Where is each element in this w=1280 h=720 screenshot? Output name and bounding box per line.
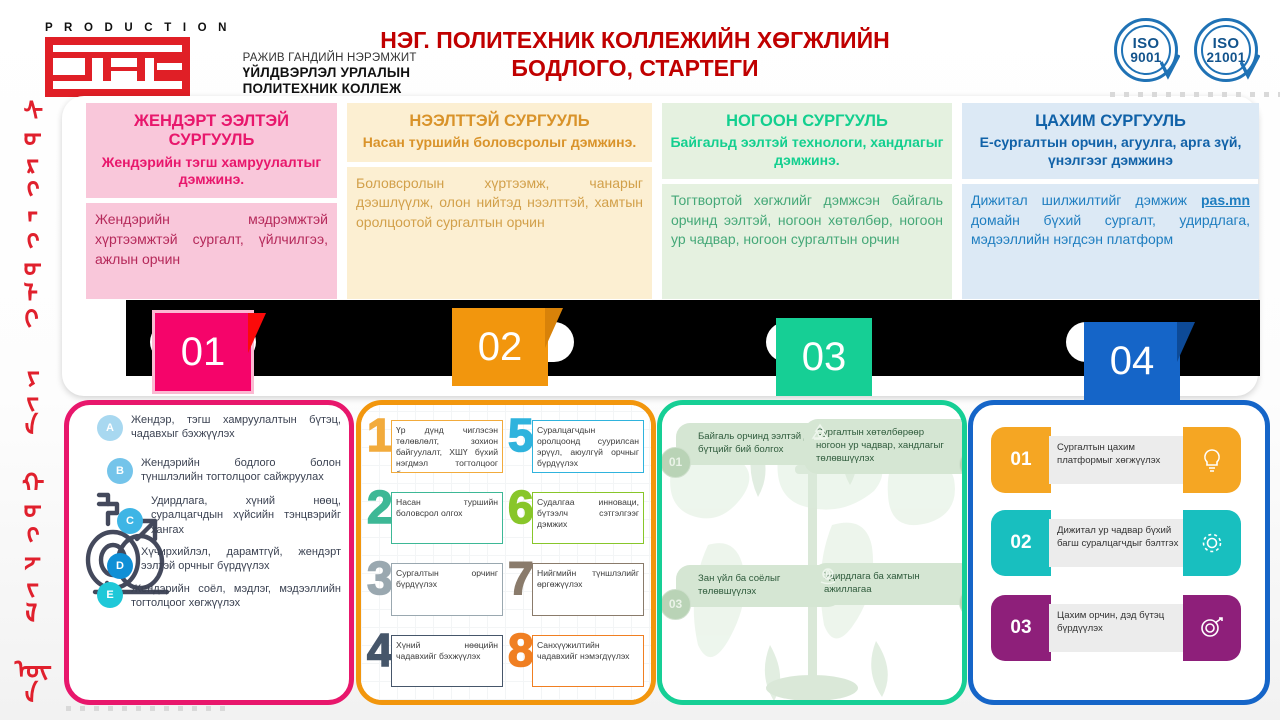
card-header: НЭЭЛТТЭЙ СУРГУУЛЬ Насан туршийн боловсро… — [347, 103, 652, 162]
grid-text: Судалгаа инноваци, бүтээлч сэтгэлгээг дэ… — [532, 492, 644, 545]
card-subtitle: Е-сургалтын орчин, агуулга, арга зүй, үн… — [970, 134, 1251, 168]
iso-label: ISO — [1213, 36, 1240, 51]
grid-number: 7 — [508, 557, 534, 601]
logo-production-word: P R O D U C T I O N — [45, 22, 231, 34]
list-item[interactable]: B Жендэрийн бодлого болон түншлэлийн тог… — [69, 456, 349, 485]
grid-item-3[interactable]: 3 Сургалтын орчинг бүрдүүлэх — [367, 555, 504, 622]
card-body-pre: Дижитал шилжилтийг дэмжиж — [971, 192, 1201, 208]
bullet-label: B — [116, 465, 124, 477]
iso-9001-badge: ISO 9001 — [1110, 14, 1182, 86]
bullet-label: A — [106, 422, 114, 434]
strategy-cards: ЖЕНДЭРТ ЭЭЛТЭЙ СУРГУУЛЬ Жендэрийн тэгш х… — [86, 103, 1262, 299]
card-subtitle: Байгальд ээлтэй технологи, хандлагыг дэм… — [670, 134, 944, 168]
gear-icon-wrap — [1183, 510, 1241, 576]
digital-item-03[interactable]: 03 Цахим орчин, дэд бүтэц бүрдүүлэх — [991, 595, 1241, 661]
green-item-02[interactable]: 02 Сургалтын хөтөлбөрөөр ногоон ур чадва… — [804, 419, 962, 474]
digital-item-text: Цахим орчин, дэд бүтэц бүрдүүлэх — [1049, 604, 1191, 652]
gear-icon — [1199, 530, 1225, 556]
card-gender-school[interactable]: ЖЕНДЭРТ ЭЭЛТЭЙ СУРГУУЛЬ Жендэрийн тэгш х… — [86, 103, 337, 299]
art-logo-mark — [45, 37, 190, 97]
grid-number: 1 — [367, 414, 393, 458]
card-digital-school[interactable]: ЦАХИМ СУРГУУЛЬ Е-сургалтын орчин, агуулг… — [962, 103, 1259, 299]
digital-item-number: 01 — [991, 427, 1051, 493]
number-tab-label: 01 — [181, 330, 226, 375]
grid-item-6[interactable]: 6 Судалгаа инноваци, бүтээлч сэтгэлгээг … — [508, 484, 645, 551]
card-title: ЦАХИМ СУРГУУЛЬ — [970, 112, 1251, 131]
card-subtitle: Насан туршийн боловсролыг дэмжинэ. — [355, 134, 644, 151]
number-tab-04[interactable]: 04 — [1084, 322, 1180, 400]
slide-title: НЭГ. ПОЛИТЕХНИК КОЛЛЕЖИЙН ХӨГЖЛИЙН БОДЛО… — [345, 26, 925, 82]
card-header: НОГООН СУРГУУЛЬ Байгальд ээлтэй технолог… — [662, 103, 952, 179]
card-subtitle: Жендэрийн тэгш хамруулалтыг дэмжинэ. — [94, 154, 329, 188]
iso-21001-badge: ISO 21001 — [1190, 14, 1262, 86]
green-item-text: Байгаль орчинд ээлтэй дэд бүтцийг бий бо… — [698, 431, 820, 455]
card-title: ЖЕНДЭРТ ЭЭЛТЭЙ СУРГУУЛЬ — [94, 112, 329, 151]
number-tab-label: 03 — [802, 335, 847, 380]
target-icon — [1199, 615, 1225, 641]
lightbulb-icon — [1199, 447, 1225, 473]
bullet-b: B — [107, 458, 133, 484]
green-item-text: Удирдлага ба хамтын ажиллагаа — [824, 571, 920, 595]
numbered-grid: 1 Үр дүнд чиглэсэн төлөвлөлт, зохион бай… — [361, 405, 651, 700]
iso-number: 9001 — [1130, 51, 1161, 65]
grid-text: Санхүүжилтийн чадавхийг нэмэгдүүлэх — [532, 635, 644, 688]
list-item-text: Жендэрийн соёл, мэдлэг, мэдээллийн тогто… — [131, 582, 341, 611]
column-green: 01 Байгаль орчинд ээлтэй дэд бүтцийг бий… — [657, 400, 967, 705]
digital-item-text: Сургалтын цахим платформыг хөгжүүлэх — [1049, 436, 1191, 484]
lightbulb-icon-wrap — [1183, 427, 1241, 493]
digital-item-01[interactable]: 01 Сургалтын цахим платформыг хөгжүүлэх — [991, 427, 1241, 493]
digital-item-text: Дижитал ур чадвар бүхий багш суралцагчды… — [1049, 519, 1191, 567]
list-item[interactable]: A Жендэр, тэгш хамруулалтын бүтэц, чадав… — [69, 413, 349, 442]
card-body: Жендэрийн мэдрэмжтэй хүртээмжтэй сургалт… — [86, 203, 337, 299]
green-item-text: Зан үйл ба соёлыг төлөвшүүлэх — [698, 573, 780, 597]
card-title: НЭЭЛТТЭЙ СУРГУУЛЬ — [355, 112, 644, 131]
grid-number: 2 — [367, 486, 393, 530]
green-item-text: Сургалтын хөтөлбөрөөр ногоон ур чадвар, … — [816, 427, 944, 464]
grid-item-2[interactable]: 2 Насан туршийн боловсрол олгох — [367, 484, 504, 551]
bullet-c: C — [117, 508, 143, 534]
bullet-label: D — [116, 560, 124, 572]
card-body: Боловсролын хүртээмж, чанарыг дээшлүүлж,… — [347, 167, 652, 299]
number-tab-label: 02 — [478, 325, 523, 370]
grid-text: Сургалтын орчинг бүрдүүлэх — [391, 563, 503, 616]
column-open: 1 Үр дүнд чиглэсэн төлөвлөлт, зохион бай… — [356, 400, 656, 705]
grid-text: Суралцагчдын оролцоонд суурилсан эрүүл, … — [532, 420, 644, 473]
card-body: Дижитал шилжилтийг дэмжиж pas.mn домайн … — [962, 184, 1259, 299]
list-item[interactable]: D Хүчирхийлэл, дарамтгүй, жендэрт ээлтэй… — [69, 545, 349, 574]
grid-item-4[interactable]: 4 Хүний нөөцийн чадавхийг бэхжүүлэх — [367, 627, 504, 694]
card-open-school[interactable]: НЭЭЛТТЭЙ СУРГУУЛЬ Насан туршийн боловсро… — [347, 103, 652, 299]
slide-canvas: P R O D U C T I O N РАЖИВ ГАНДИЙН НЭРЭМЖ… — [0, 0, 1280, 720]
list-item-text: Жендэрийн бодлого болон түншлэлийн тогто… — [141, 456, 341, 485]
card-title: НОГООН СУРГУУЛЬ — [670, 112, 944, 131]
grid-text: Нийгмийн түншлэлийг өргөжүүлэх — [532, 563, 644, 616]
grid-number: 3 — [367, 557, 393, 601]
card-header: ЖЕНДЭРТ ЭЭЛТЭЙ СУРГУУЛЬ Жендэрийн тэгш х… — [86, 103, 337, 198]
grid-item-5[interactable]: 5 Суралцагчдын оролцоонд суурилсан эрүүл… — [508, 412, 645, 479]
grid-text: Үр дүнд чиглэсэн төлөвлөлт, зохион байгу… — [391, 420, 503, 473]
dot-band-top — [1110, 92, 1280, 97]
digital-item-number: 03 — [991, 595, 1051, 661]
list-item[interactable]: C Удирдлага, хүний нөөц, суралцагчдын хү… — [69, 494, 349, 537]
list-item-text: Удирдлага, хүний нөөц, суралцагчдын хүйс… — [151, 494, 341, 537]
list-item-text: Хүчирхийлэл, дарамтгүй, жендэрт ээлтэй о… — [141, 545, 341, 574]
dot-band-bottom — [66, 706, 225, 711]
card-green-school[interactable]: НОГООН СУРГУУЛЬ Байгальд ээлтэй технолог… — [662, 103, 952, 299]
digital-item-02[interactable]: 02 Дижитал ур чадвар бүхий багш суралцаг… — [991, 510, 1241, 576]
grid-text: Хүний нөөцийн чадавхийг бэхжүүлэх — [391, 635, 503, 688]
logo-line-3: ПОЛИТЕХНИК КОЛЛЕЖ — [243, 81, 417, 97]
card-body-post: домайн бүхий сургалт, удирдлага, мэдээлл… — [971, 212, 1250, 248]
list-item-text: Жендэр, тэгш хамруулалтын бүтэц, чадавхы… — [131, 413, 341, 442]
grid-item-8[interactable]: 8 Санхүүжилтийн чадавхийг нэмэгдүүлэх — [508, 627, 645, 694]
grid-number: 4 — [367, 629, 393, 673]
bullet-d: D — [107, 553, 133, 579]
iso-badges: ISO 9001 ISO 21001 — [1110, 14, 1262, 86]
bullet-label: E — [106, 589, 113, 601]
green-item-04[interactable]: 04 Удирдлага ба хамтын ажиллагаа — [812, 563, 962, 605]
card-body: Тогтвортой хөгжлийг дэмжсэн байгаль орчи… — [662, 184, 952, 299]
grid-number: 6 — [508, 486, 534, 530]
bullet-label: C — [126, 515, 134, 527]
number-tab-02[interactable]: 02 — [452, 308, 548, 386]
target-icon-wrap — [1183, 595, 1241, 661]
column-digital: 01 Сургалтын цахим платформыг хөгжүүлэх … — [968, 400, 1270, 705]
number-tab-01[interactable]: 01 — [152, 310, 254, 394]
grid-text: Насан туршийн боловсрол олгох — [391, 492, 503, 545]
globe-hand-icon — [818, 567, 838, 587]
grid-number: 8 — [508, 629, 534, 673]
bullet-a: A — [97, 415, 123, 441]
grid-number: 5 — [508, 414, 534, 458]
pas-mn-link[interactable]: pas.mn — [1201, 192, 1250, 208]
number-tab-03[interactable]: 03 — [776, 318, 872, 396]
number-tab-label: 04 — [1110, 339, 1155, 384]
recycle-icon — [810, 423, 830, 443]
column-gender: A Жендэр, тэгш хамруулалтын бүтэц, чадав… — [64, 400, 354, 705]
list-item[interactable]: E Жендэрийн соёл, мэдлэг, мэдээллийн тог… — [69, 582, 349, 611]
vertical-mongolian-script: ᠰᠤᠷᠭᠠᠭᠤᠯᠢ ᠶᠢᠨ ᠬᠥᠭᠵᠢᠯ ᠦᠨ ᠪᠣᠳᠣᠯᠭ᠎ᠠ — [6, 96, 68, 714]
iso-label: ISO — [1133, 36, 1160, 51]
grid-item-7[interactable]: 7 Нийгмийн түншлэлийг өргөжүүлэх — [508, 555, 645, 622]
digital-item-number: 02 — [991, 510, 1051, 576]
grid-item-1[interactable]: 1 Үр дүнд чиглэсэн төлөвлөлт, зохион бай… — [367, 412, 504, 479]
bullet-e: E — [97, 582, 123, 608]
card-header: ЦАХИМ СУРГУУЛЬ Е-сургалтын орчин, агуулг… — [962, 103, 1259, 179]
